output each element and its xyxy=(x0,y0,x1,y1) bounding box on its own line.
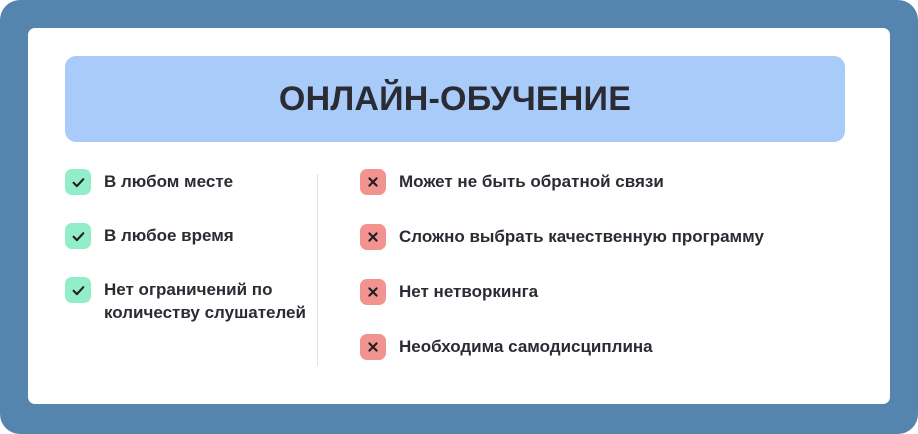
list-item: В любом месте xyxy=(65,168,315,195)
list-item: Необходима самодисциплина xyxy=(360,333,880,360)
cons-column: Может не быть обратной связи Сложно выбр… xyxy=(360,168,880,388)
list-item-label: Сложно выбрать качественную программу xyxy=(399,223,764,249)
list-item: Нет ограничений по количеству слушателей xyxy=(65,276,315,325)
cross-icon xyxy=(360,334,386,360)
list-item-label: Может не быть обратной связи xyxy=(399,168,664,194)
cross-icon xyxy=(360,279,386,305)
cross-icon xyxy=(360,169,386,195)
comparison-body: В любом месте В любое время xyxy=(28,168,890,388)
list-item: Сложно выбрать качественную программу xyxy=(360,223,880,250)
pros-column: В любом месте В любое время xyxy=(65,168,315,325)
outer-frame: ОНЛАЙН-ОБУЧЕНИЕ В любом месте xyxy=(0,0,918,434)
list-item: Нет нетворкинга xyxy=(360,278,880,305)
list-item-label: В любое время xyxy=(104,222,234,248)
cross-icon xyxy=(360,224,386,250)
list-item: В любое время xyxy=(65,222,315,249)
title-banner: ОНЛАЙН-ОБУЧЕНИЕ xyxy=(65,56,845,142)
list-item-label: Необходима самодисциплина xyxy=(399,333,653,359)
column-divider xyxy=(317,174,318,366)
check-icon xyxy=(65,277,91,303)
check-icon xyxy=(65,223,91,249)
page-title: ОНЛАЙН-ОБУЧЕНИЕ xyxy=(279,82,631,116)
list-item-label: Нет нетворкинга xyxy=(399,278,538,304)
content-card: ОНЛАЙН-ОБУЧЕНИЕ В любом месте xyxy=(28,28,890,404)
list-item-label: В любом месте xyxy=(104,168,233,194)
check-icon xyxy=(65,169,91,195)
list-item-label: Нет ограничений по количеству слушателей xyxy=(104,276,315,325)
list-item: Может не быть обратной связи xyxy=(360,168,880,195)
